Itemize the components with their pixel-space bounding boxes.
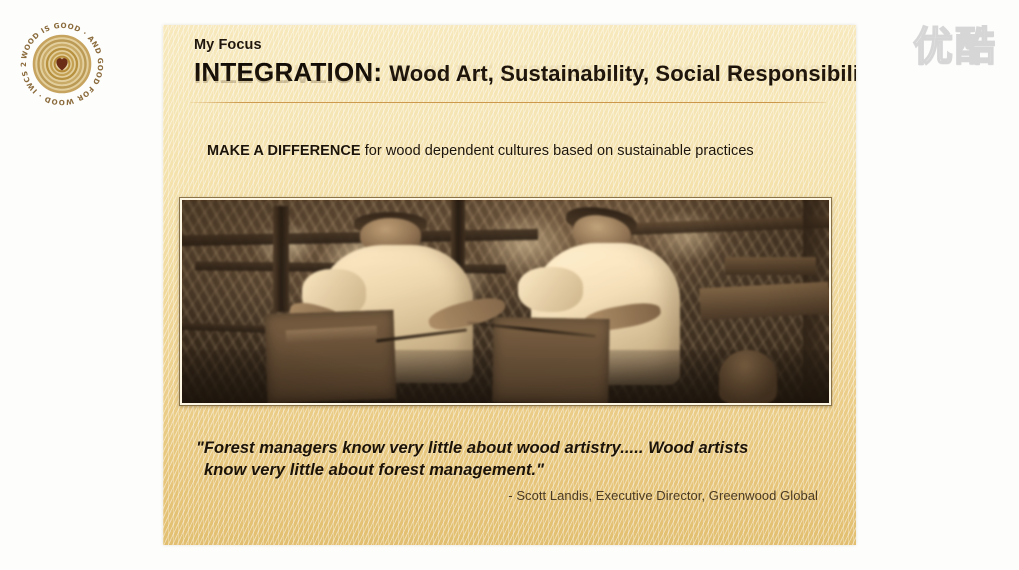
slide-header: My Focus INTEGRATION:Wood Art, Sustainab…	[163, 25, 856, 105]
slide-title: INTEGRATION:Wood Art, Sustainability, So…	[194, 59, 856, 85]
slide-title-keyword: INTEGRATION:	[194, 57, 382, 87]
subtitle-emphasis: MAKE A DIFFERENCE	[207, 143, 361, 159]
slide-quote: "Forest managers know very little about …	[196, 438, 796, 482]
quote-attribution: - Scott Landis, Executive Director, Gree…	[196, 488, 818, 503]
presentation-slide: My Focus INTEGRATION:Wood Art, Sustainab…	[163, 25, 856, 545]
photo-vignette-layer	[182, 200, 829, 403]
video-player-frame: WOOD IS GOOD · AND GOOD FOR WOOD · IWCS …	[0, 0, 1019, 570]
world-wood-day-logo: WOOD IS GOOD · AND GOOD FOR WOOD · IWCS …	[12, 14, 112, 114]
title-divider-rule	[190, 102, 826, 103]
quote-line-1: "Forest managers know very little about …	[196, 439, 748, 457]
slide-title-subject: Wood Art, Sustainability, Social Respons…	[389, 61, 856, 86]
quote-text: "Forest managers know very little about …	[196, 438, 796, 482]
slide-eyebrow-label: My Focus	[194, 37, 262, 53]
logo-rings-icon: WOOD IS GOOD · AND GOOD FOR WOOD · IWCS …	[12, 14, 112, 114]
subtitle-rest: for wood dependent cultures based on sus…	[361, 143, 754, 159]
slide-photo-frame	[179, 197, 832, 406]
slide-subtitle: MAKE A DIFFERENCE for wood dependent cul…	[207, 143, 754, 159]
artisans-carving-photo	[182, 200, 829, 403]
youku-watermark: 优酷	[913, 27, 997, 67]
quote-line-2: know very little about forest management…	[196, 460, 796, 482]
